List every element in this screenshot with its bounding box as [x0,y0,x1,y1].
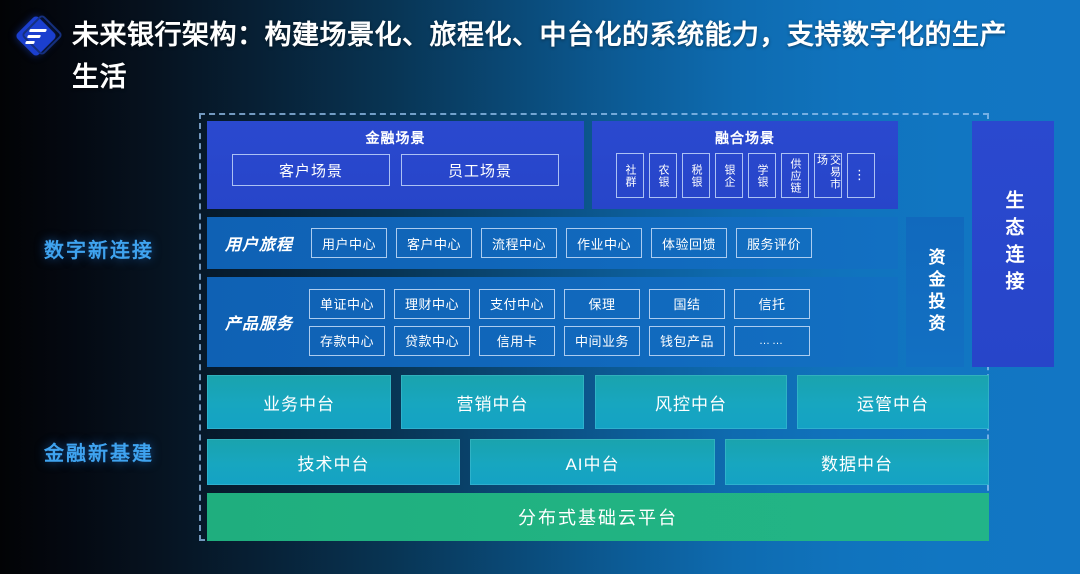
midplatform-data[interactable]: 数据中台 [725,439,989,485]
page-title: 未来银行架构：构建场景化、旅程化、中台化的系统能力，支持数字化的生产生活 [72,14,1032,98]
scene-item-customer[interactable]: 客户场景 [232,154,390,186]
product-row-1: 单证中心 理财中心 支付中心 保理 国结 信托 [309,289,810,319]
product-item-payment-center[interactable]: 支付中心 [479,289,555,319]
fusion-item-agri-bank[interactable]: 农银 [649,153,677,198]
journey-item-user-center[interactable]: 用户中心 [311,228,387,258]
product-service-grid: 单证中心 理财中心 支付中心 保理 国结 信托 存款中心 贷款中心 信用卡 中间… [309,289,810,356]
product-item-factoring[interactable]: 保理 [564,289,640,319]
cloud-platform-bar[interactable]: 分布式基础云平台 [207,493,989,541]
product-service-panel: 产品服务 单证中心 理财中心 支付中心 保理 国结 信托 存款中心 贷款中心 信… [207,277,898,367]
diamond-bars-logo-icon [18,18,56,56]
fusion-item-trade-market[interactable]: 交易市场 [814,153,842,198]
midplatform-ai[interactable]: AI中台 [470,439,715,485]
fusion-item-tax-bank[interactable]: 税银 [682,153,710,198]
journey-item-customer-center[interactable]: 客户中心 [396,228,472,258]
journey-item-operation-center[interactable]: 作业中心 [566,228,642,258]
midplatform-marketing[interactable]: 营销中台 [401,375,584,429]
midplatform-operations[interactable]: 运管中台 [797,375,989,429]
product-item-loan-center[interactable]: 贷款中心 [394,326,470,356]
journey-item-process-center[interactable]: 流程中心 [481,228,557,258]
fusion-item-community[interactable]: 社群 [616,153,644,198]
midplatform-business[interactable]: 业务中台 [207,375,391,429]
product-item-credit-card[interactable]: 信用卡 [479,326,555,356]
product-item-document-center[interactable]: 单证中心 [309,289,385,319]
user-journey-label: 用户旅程 [225,231,293,255]
user-journey-panel: 用户旅程 用户中心 客户中心 流程中心 作业中心 体验回馈 服务评价 [207,217,898,269]
midplatform-technology[interactable]: 技术中台 [207,439,460,485]
slide-header: 未来银行架构：构建场景化、旅程化、中台化的系统能力，支持数字化的生产生活 [0,0,1080,108]
financial-scene-items: 客户场景 员工场景 [207,154,584,186]
scene-item-employee[interactable]: 员工场景 [401,154,559,186]
financial-scene-title: 金融场景 [207,121,584,148]
section-label-digital-connection: 数字新连接 [44,234,154,263]
ecosystem-connection-panel: 生态连接 [972,121,1054,367]
product-service-label: 产品服务 [225,310,293,334]
product-item-intermediary-business[interactable]: 中间业务 [564,326,640,356]
section-label-financial-infrastructure: 金融新基建 [44,437,154,466]
product-item-wallet-product[interactable]: 钱包产品 [649,326,725,356]
fusion-item-school-bank[interactable]: 学银 [748,153,776,198]
fusion-item-bank-enterprise[interactable]: 银企 [715,153,743,198]
midplatform-risk-control[interactable]: 风控中台 [595,375,787,429]
product-item-deposit-center[interactable]: 存款中心 [309,326,385,356]
fusion-item-supply-chain[interactable]: 供应链 [781,153,809,198]
product-item-intl-settlement[interactable]: 国结 [649,289,725,319]
digital-connection-area: 金融场景 客户场景 员工场景 融合场景 社群 农银 税银 银企 学银 供应链 交… [207,121,989,367]
capital-investment-label: 资金投资 [923,248,948,336]
journey-item-service-evaluation[interactable]: 服务评价 [736,228,812,258]
fusion-scene-panel: 融合场景 社群 农银 税银 银企 学银 供应链 交易市场 ⋮ [592,121,898,209]
slide-canvas: 未来银行架构：构建场景化、旅程化、中台化的系统能力，支持数字化的生产生活 数字新… [0,0,1080,574]
user-journey-items: 用户中心 客户中心 流程中心 作业中心 体验回馈 服务评价 [311,228,812,258]
product-item-trust[interactable]: 信托 [734,289,810,319]
fusion-scene-items: 社群 农银 税银 银企 学银 供应链 交易市场 ⋮ [592,153,898,198]
product-item-wealth-center[interactable]: 理财中心 [394,289,470,319]
product-item-more[interactable]: …… [734,326,810,356]
product-row-2: 存款中心 贷款中心 信用卡 中间业务 钱包产品 …… [309,326,810,356]
fusion-item-more[interactable]: ⋮ [847,153,875,198]
capital-investment-panel: 资金投资 [906,217,964,367]
journey-item-experience-feedback[interactable]: 体验回馈 [651,228,727,258]
ecosystem-connection-label: 生态连接 [1000,190,1027,298]
financial-infrastructure-area: 业务中台 营销中台 风控中台 运管中台 技术中台 AI中台 数据中台 分布式基础… [207,375,989,533]
fusion-scene-title: 融合场景 [592,121,898,148]
financial-scene-panel: 金融场景 客户场景 员工场景 [207,121,584,209]
